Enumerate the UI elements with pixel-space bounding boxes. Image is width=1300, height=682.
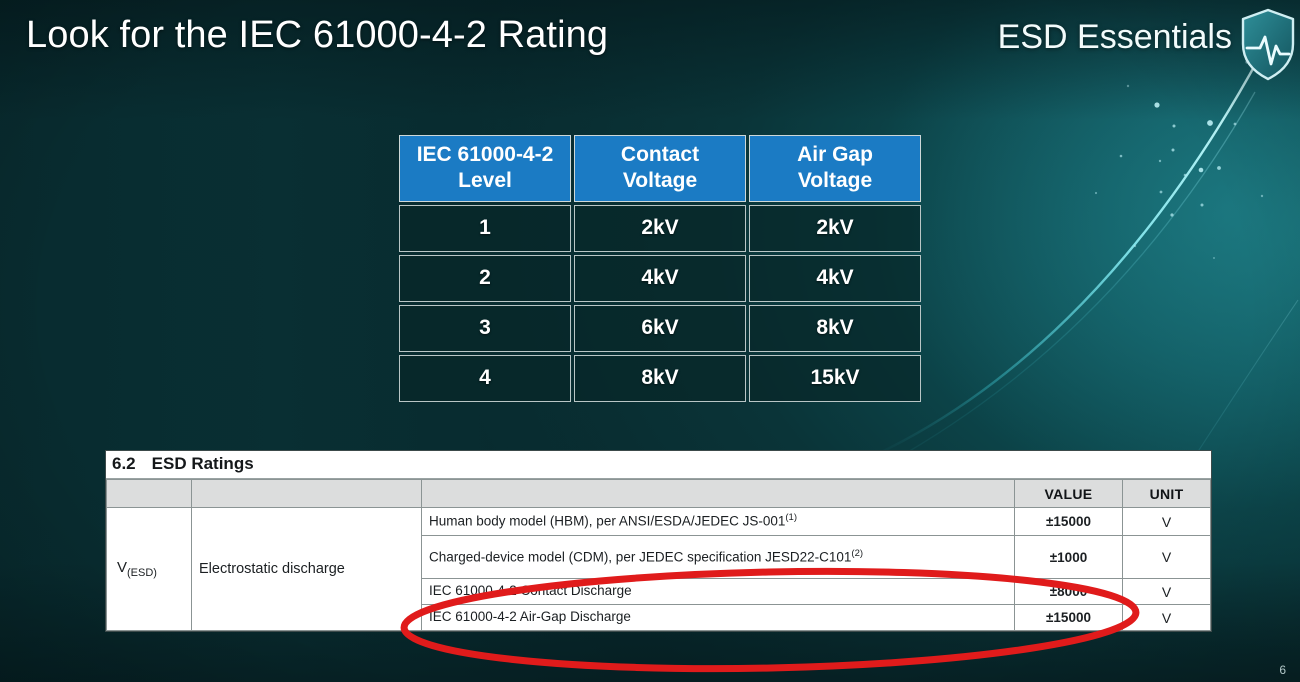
- table-row: 3 6kV 8kV: [399, 305, 921, 352]
- cell-airgap-voltage: 15kV: [749, 355, 921, 402]
- symbol-v: V: [117, 559, 127, 576]
- column-header-unit: UNIT: [1123, 480, 1211, 508]
- column-header-level: IEC 61000-4-2 Level: [399, 135, 571, 202]
- cell-level: 1: [399, 205, 571, 252]
- cell-value: ±8000: [1015, 579, 1123, 605]
- column-header-contact-line1: Contact: [621, 143, 699, 166]
- footnote-marker: (1): [785, 512, 797, 523]
- datasheet-excerpt: 6.2ESD Ratings VALUE UNIT V(ESD) Electro…: [105, 450, 1212, 632]
- column-header-contact-voltage: Contact Voltage: [574, 135, 746, 202]
- page-title: Look for the IEC 61000-4-2 Rating: [26, 14, 608, 57]
- cell-unit: V: [1123, 579, 1211, 605]
- footnote-marker: (2): [851, 548, 863, 559]
- cell-symbol-vesd: V(ESD): [107, 508, 192, 631]
- datasheet-section-heading: 6.2ESD Ratings: [106, 451, 1211, 479]
- table-row: 4 8kV 15kV: [399, 355, 921, 402]
- condition-text: Charged-device model (CDM), per JEDEC sp…: [429, 549, 851, 564]
- cell-parameter-electrostatic-discharge: Electrostatic discharge: [192, 508, 422, 631]
- datasheet-section-number: 6.2: [112, 454, 136, 473]
- cell-level: 4: [399, 355, 571, 402]
- cell-unit: V: [1123, 605, 1211, 631]
- brand-title: ESD Essentials: [998, 8, 1232, 57]
- cell-level: 3: [399, 305, 571, 352]
- page-number: 6: [1279, 663, 1286, 677]
- column-header-level-line1: IEC 61000-4-2: [417, 143, 554, 166]
- header-blank-symbol: [107, 480, 192, 508]
- shield-heartbeat-icon: [1240, 8, 1296, 82]
- column-header-airgap-line1: Air Gap: [797, 143, 873, 166]
- cell-unit: V: [1123, 536, 1211, 579]
- table-row: V(ESD) Electrostatic discharge Human bod…: [107, 508, 1211, 536]
- cell-level: 2: [399, 255, 571, 302]
- column-header-contact-line2: Voltage: [579, 168, 741, 194]
- cell-condition-cdm: Charged-device model (CDM), per JEDEC sp…: [422, 536, 1015, 579]
- symbol-subscript-esd: (ESD): [127, 567, 157, 579]
- cell-contact-voltage: 2kV: [574, 205, 746, 252]
- slide-canvas: Look for the IEC 61000-4-2 Rating ESD Es…: [0, 0, 1300, 682]
- header-blank-condition: [422, 480, 1015, 508]
- cell-airgap-voltage: 8kV: [749, 305, 921, 352]
- cell-value: ±1000: [1015, 536, 1123, 579]
- header-blank-parameter: [192, 480, 422, 508]
- table-row: 1 2kV 2kV: [399, 205, 921, 252]
- cell-value: ±15000: [1015, 508, 1123, 536]
- cell-unit: V: [1123, 508, 1211, 536]
- condition-text: Human body model (HBM), per ANSI/ESDA/JE…: [429, 514, 785, 529]
- column-header-value: VALUE: [1015, 480, 1123, 508]
- cell-condition-iec-contact: IEC 61000-4-2 Contact Discharge: [422, 579, 1015, 605]
- table-row: 2 4kV 4kV: [399, 255, 921, 302]
- cell-value: ±15000: [1015, 605, 1123, 631]
- table-header-row: IEC 61000-4-2 Level Contact Voltage Air …: [399, 135, 921, 202]
- cell-airgap-voltage: 2kV: [749, 205, 921, 252]
- column-header-airgap-voltage: Air Gap Voltage: [749, 135, 921, 202]
- brand-lockup: ESD Essentials: [998, 8, 1296, 82]
- column-header-airgap-line2: Voltage: [754, 168, 916, 194]
- cell-condition-iec-airgap: IEC 61000-4-2 Air-Gap Discharge: [422, 605, 1015, 631]
- column-header-level-line2: Level: [404, 168, 566, 194]
- cell-contact-voltage: 6kV: [574, 305, 746, 352]
- cell-condition-hbm: Human body model (HBM), per ANSI/ESDA/JE…: [422, 508, 1015, 536]
- cell-airgap-voltage: 4kV: [749, 255, 921, 302]
- iec-level-table: IEC 61000-4-2 Level Contact Voltage Air …: [396, 132, 924, 405]
- cell-contact-voltage: 4kV: [574, 255, 746, 302]
- esd-ratings-table: VALUE UNIT V(ESD) Electrostatic discharg…: [106, 479, 1211, 631]
- datasheet-header-row: VALUE UNIT: [107, 480, 1211, 508]
- cell-contact-voltage: 8kV: [574, 355, 746, 402]
- datasheet-section-title: ESD Ratings: [152, 454, 254, 473]
